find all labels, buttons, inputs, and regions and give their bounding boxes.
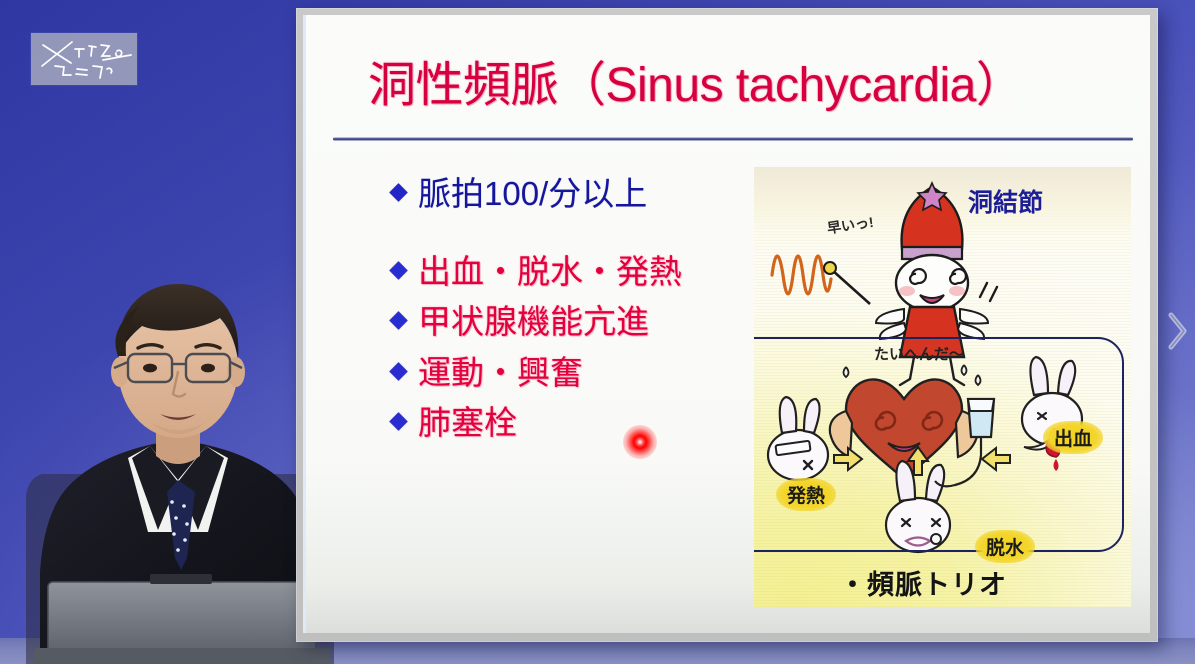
studio-backdrop: 洞性頻脈（Sinus tachycardia） 脈拍100/分以上 出血・脱水・… bbox=[0, 0, 1195, 664]
sinus-node-label: 洞結節 bbox=[968, 183, 1043, 219]
next-slide-chevron[interactable] bbox=[1164, 309, 1190, 353]
bullet-label: 脈拍100/分以上 bbox=[418, 173, 647, 215]
bullet-item: 運動・興奮 bbox=[392, 352, 742, 394]
illustration-top-wash bbox=[754, 167, 1131, 253]
bullet-list: 脈拍100/分以上 出血・脱水・発熱 甲状腺機能亢進 運動・ bbox=[392, 173, 742, 444]
tag-bleeding: 出血 bbox=[1043, 421, 1103, 454]
tachycardia-illustration: 洞結節 早いっ! たいへんだ〜 出血 発熱 脱水 ・頻脈トリオ bbox=[754, 167, 1131, 607]
heart-speech-label: たいへんだ〜 bbox=[874, 343, 964, 364]
bullet-group-primary: 脈拍100/分以上 bbox=[392, 173, 742, 215]
bullet-item: 甲状腺機能亢進 bbox=[392, 301, 742, 343]
slide-title: 洞性頻脈（Sinus tachycardia） bbox=[368, 61, 1023, 111]
illustration-caption: ・頻脈トリオ bbox=[839, 563, 1007, 602]
medica-seminar-logo bbox=[31, 33, 137, 85]
bullet-group-causes: 出血・脱水・発熱 甲状腺機能亢進 運動・興奮 肺塞栓 bbox=[392, 251, 742, 444]
bullet-label: 甲状腺機能亢進 bbox=[418, 301, 649, 343]
bullet-label: 肺塞栓 bbox=[418, 402, 517, 444]
diamond-bullet-icon bbox=[389, 362, 407, 380]
bullet-item: 出血・脱水・発熱 bbox=[392, 251, 742, 293]
laptop bbox=[34, 574, 330, 664]
bullet-label: 運動・興奮 bbox=[418, 352, 583, 394]
tag-dehydration: 脱水 bbox=[975, 530, 1035, 563]
bullet-item: 肺塞栓 bbox=[392, 402, 742, 444]
diamond-bullet-icon bbox=[389, 183, 407, 201]
laser-pointer-dot bbox=[623, 425, 657, 459]
logo-handwriting-icon bbox=[31, 33, 137, 85]
diamond-bullet-icon bbox=[389, 413, 407, 431]
bullet-label: 出血・脱水・発熱 bbox=[418, 251, 682, 293]
slide-content-area: 洞性頻脈（Sinus tachycardia） 脈拍100/分以上 出血・脱水・… bbox=[303, 15, 1150, 633]
bullet-group-spacer bbox=[392, 215, 742, 251]
diamond-bullet-icon bbox=[389, 311, 407, 329]
tag-fever: 発熱 bbox=[776, 478, 836, 511]
title-underline-rule bbox=[333, 137, 1133, 141]
chevron-right-icon[interactable] bbox=[1164, 309, 1190, 353]
diamond-bullet-icon bbox=[389, 261, 407, 279]
projected-slide: 洞性頻脈（Sinus tachycardia） 脈拍100/分以上 出血・脱水・… bbox=[296, 8, 1158, 642]
bullet-item: 脈拍100/分以上 bbox=[392, 173, 742, 215]
